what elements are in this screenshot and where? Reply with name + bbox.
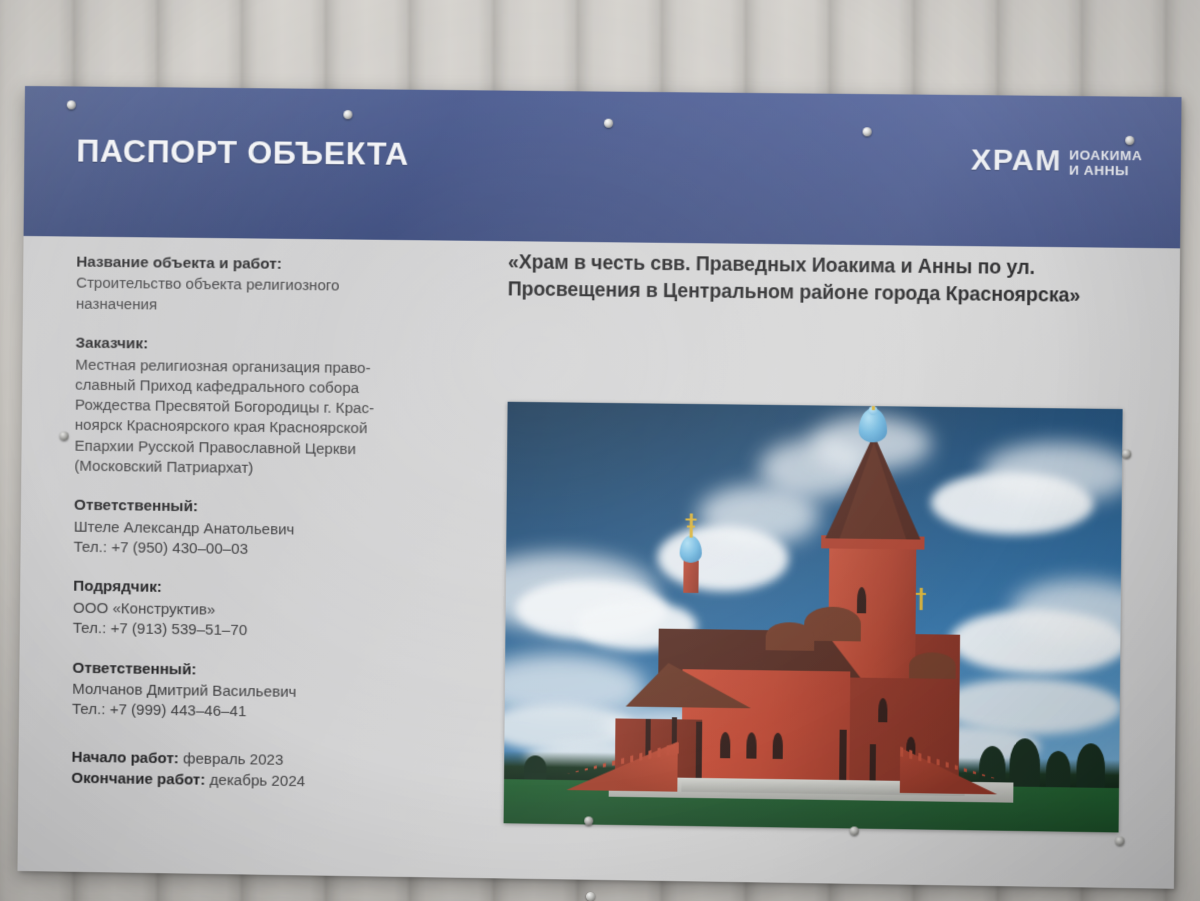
image-vignette [0, 0, 1200, 901]
wall-screw [586, 892, 595, 901]
